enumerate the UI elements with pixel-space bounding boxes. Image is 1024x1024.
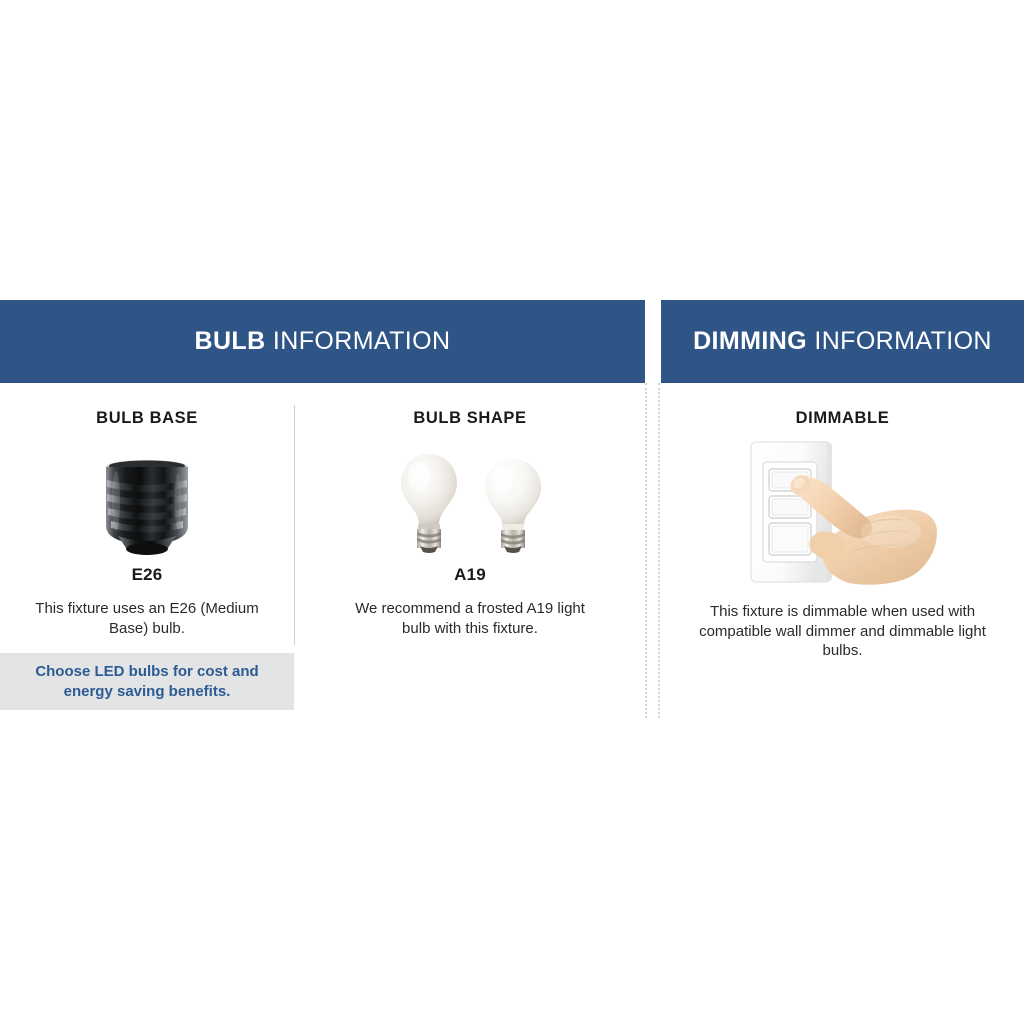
banner-bulb-bold-word: BULB bbox=[195, 327, 266, 355]
bulb-base-figure-label: E26 bbox=[0, 565, 294, 585]
led-callout-text: Choose LED bulbs for cost and energy sav… bbox=[22, 662, 272, 702]
e26-screw-base-icon bbox=[94, 456, 200, 556]
bulb-base-figure bbox=[0, 434, 294, 556]
column-divider bbox=[294, 405, 295, 645]
bulb-base-column: BULB BASE bbox=[0, 383, 294, 638]
wall-dimmer-hand-icon bbox=[743, 436, 943, 586]
banner-bulb-light-word: INFORMATION bbox=[273, 327, 451, 355]
dimming-information-panel: DIMMABLE bbox=[661, 383, 1024, 723]
bulb-base-title: BULB BASE bbox=[0, 409, 294, 428]
a19-incandescent-bulb-icon bbox=[395, 450, 463, 556]
a19-bulb-pair-icon bbox=[395, 450, 545, 556]
banner-dimming-bold-word: DIMMING bbox=[693, 327, 807, 355]
dimming-information-banner: DIMMING INFORMATION bbox=[661, 300, 1024, 383]
panel-separator-dotted-left bbox=[645, 383, 647, 718]
dimmable-figure bbox=[661, 434, 1024, 586]
panel-separator-dotted-right bbox=[658, 383, 660, 718]
led-callout-box: Choose LED bulbs for cost and energy sav… bbox=[0, 653, 294, 710]
dimming-information-banner-title: DIMMING INFORMATION bbox=[693, 327, 992, 356]
bulb-shape-column: BULB SHAPE bbox=[295, 383, 645, 638]
dimmable-column: DIMMABLE bbox=[661, 383, 1024, 661]
bulb-shape-title: BULB SHAPE bbox=[295, 409, 645, 428]
dimmable-title: DIMMABLE bbox=[661, 409, 1024, 428]
dimmable-description: This fixture is dimmable when used with … bbox=[698, 602, 988, 661]
bulb-information-banner-title: BULB INFORMATION bbox=[195, 327, 451, 356]
bulb-shape-figure bbox=[295, 434, 645, 556]
bulb-shape-figure-label: A19 bbox=[295, 565, 645, 585]
bulb-base-description: This fixture uses an E26 (Medium Base) b… bbox=[22, 599, 272, 638]
bulb-information-banner: BULB INFORMATION bbox=[0, 300, 645, 383]
bulb-shape-description: We recommend a frosted A19 light bulb wi… bbox=[339, 599, 601, 638]
a19-led-bulb-icon bbox=[481, 456, 545, 556]
banner-dimming-light-word: INFORMATION bbox=[814, 327, 992, 355]
